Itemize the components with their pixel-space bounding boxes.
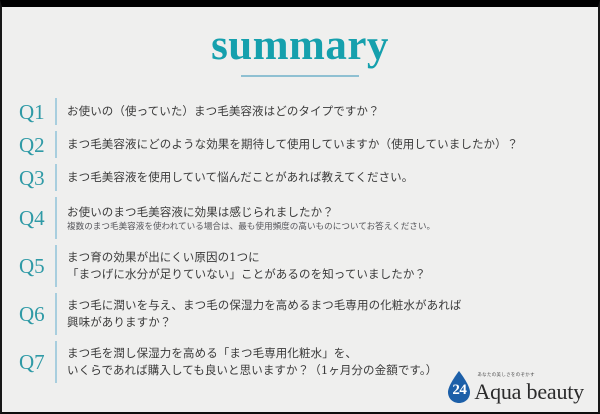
question-line-1: まつ毛を潤し保湿力を高める「まつ毛専用化粧水」を、 bbox=[67, 345, 585, 362]
question-line-2: 「まつげに水分が足りていない」ことがあるのを知っていましたか？ bbox=[67, 266, 585, 283]
question-line-1: まつ育の効果が出にくい原因の1つに bbox=[67, 249, 585, 266]
title-underline-rule bbox=[241, 75, 359, 77]
water-drop-number: 24 bbox=[445, 383, 473, 398]
question-text: お使いのまつ毛美容液に効果は感じられましたか？ 複数のまつ毛美容液を使われている… bbox=[57, 204, 585, 233]
question-row: Q1 お使いの（使っていた）まつ毛美容液はどのタイプですか？ bbox=[19, 95, 585, 128]
question-text: まつ毛美容液を使用していて悩んだことがあれば教えてください。 bbox=[57, 169, 585, 186]
question-line-2: 興味がありますか？ bbox=[67, 314, 585, 331]
question-line-1: お使いのまつ毛美容液に効果は感じられましたか？ bbox=[67, 204, 585, 221]
question-list: Q1 お使いの（使っていた）まつ毛美容液はどのタイプですか？ Q2 まつ毛美容液… bbox=[19, 95, 585, 386]
summary-slide: summary Q1 お使いの（使っていた）まつ毛美容液はどのタイプですか？ Q… bbox=[0, 0, 600, 414]
question-row: Q5 まつ育の効果が出にくい原因の1つに 「まつげに水分が足りていない」ことがあ… bbox=[19, 242, 585, 290]
question-row: Q2 まつ毛美容液にどのような効果を期待して使用していますか（使用していましたか… bbox=[19, 128, 585, 161]
question-label: Q3 bbox=[19, 167, 55, 189]
question-line-1: まつ毛に潤いを与え、まつ毛の保湿力を高めるまつ毛専用の化粧水があれば bbox=[67, 297, 585, 314]
question-subtext: 複数のまつ毛美容液を使われている場合は、最も使用頻度の高いものについてお答えくだ… bbox=[67, 221, 585, 233]
question-text: まつ毛美容液にどのような効果を期待して使用していますか（使用していましたか）？ bbox=[57, 136, 585, 153]
question-line-1: お使いの（使っていた）まつ毛美容液はどのタイプですか？ bbox=[67, 103, 585, 120]
page-title-text: summary bbox=[2, 21, 598, 71]
question-row: Q4 お使いのまつ毛美容液に効果は感じられましたか？ 複数のまつ毛美容液を使われ… bbox=[19, 194, 585, 242]
brand-logo-text: あなたの美しさをのぞかす Aqua beauty bbox=[474, 373, 584, 404]
water-drop-icon: 24 bbox=[445, 370, 473, 404]
question-label: Q2 bbox=[19, 134, 55, 156]
question-row: Q6 まつ毛に潤いを与え、まつ毛の保湿力を高めるまつ毛専用の化粧水があれば 興味… bbox=[19, 290, 585, 338]
question-text: お使いの（使っていた）まつ毛美容液はどのタイプですか？ bbox=[57, 103, 585, 120]
question-label: Q5 bbox=[19, 255, 55, 277]
question-text: まつ育の効果が出にくい原因の1つに 「まつげに水分が足りていない」ことがあるのを… bbox=[57, 249, 585, 283]
question-label: Q1 bbox=[19, 101, 55, 123]
question-label: Q4 bbox=[19, 207, 55, 229]
brand-name: Aqua beauty bbox=[474, 380, 584, 404]
question-label: Q7 bbox=[19, 351, 55, 373]
question-line-1: まつ毛美容液を使用していて悩んだことがあれば教えてください。 bbox=[67, 169, 585, 186]
question-text: まつ毛に潤いを与え、まつ毛の保湿力を高めるまつ毛専用の化粧水があれば 興味があり… bbox=[57, 297, 585, 331]
page-title: summary bbox=[2, 21, 598, 77]
question-label: Q6 bbox=[19, 303, 55, 325]
brand-logo: 24 あなたの美しさをのぞかす Aqua beauty bbox=[445, 366, 584, 404]
question-row: Q3 まつ毛美容液を使用していて悩んだことがあれば教えてください。 bbox=[19, 161, 585, 194]
question-line-1: まつ毛美容液にどのような効果を期待して使用していますか（使用していましたか）？ bbox=[67, 136, 585, 153]
